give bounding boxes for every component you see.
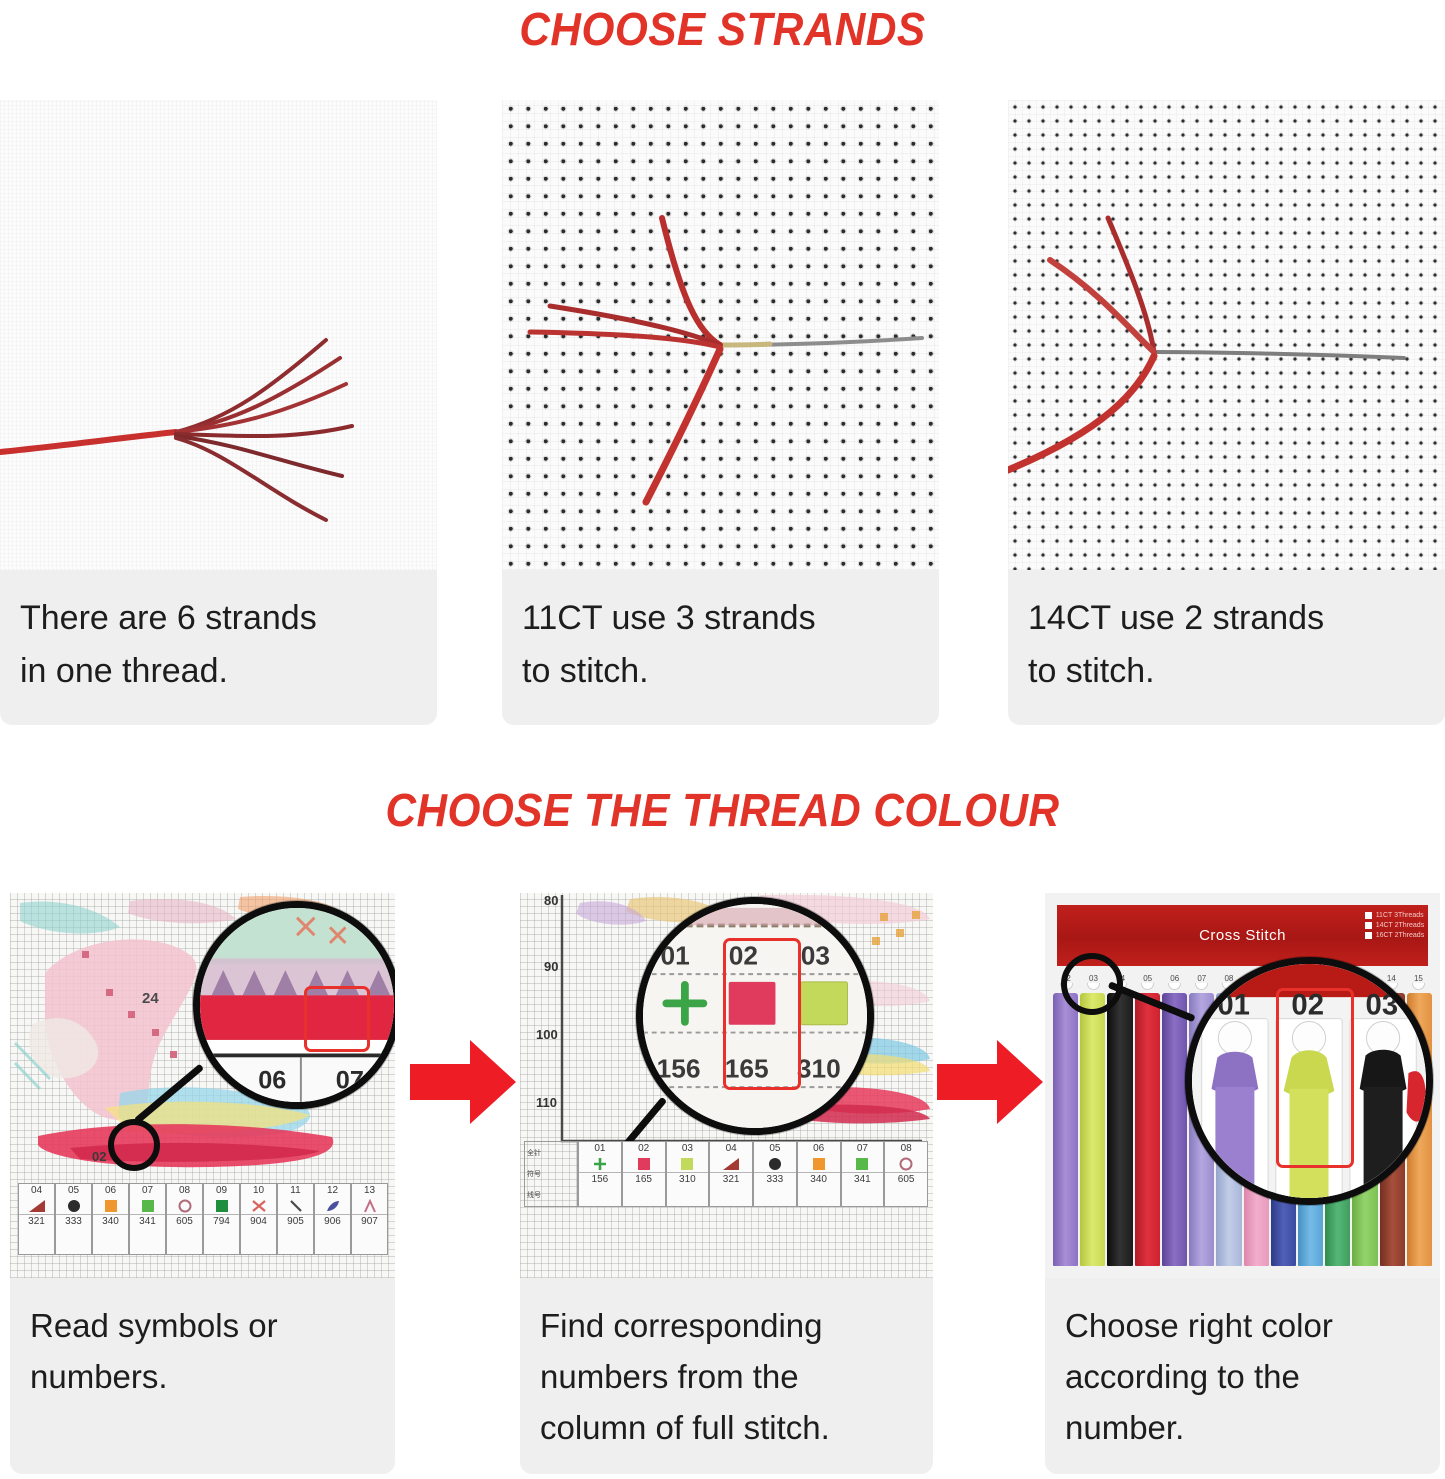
legend-code: 12 <box>327 1184 338 1197</box>
heading-choose-strands: CHOOSE STRANDS <box>58 2 1387 56</box>
legend-symbol <box>591 1155 609 1172</box>
checkbox-icon <box>1365 932 1372 939</box>
legend-cell: 07 341 <box>129 1183 166 1255</box>
legend-dmc: 165 <box>623 1172 665 1186</box>
legend-symbol <box>324 1197 342 1214</box>
legend-cell: 05 333 <box>753 1141 797 1207</box>
photo-six-strands <box>0 100 437 570</box>
caption-11ct: 11CT use 3 strands to stitch. <box>502 570 939 725</box>
caption-line: numbers. <box>30 1351 375 1402</box>
triangle-symbol-icon <box>721 1156 741 1172</box>
legend-text: 14CT 2Threads <box>1376 922 1425 929</box>
lambda-symbol-icon <box>361 1198 379 1214</box>
thread-card-title: Cross Stitch <box>1199 927 1286 944</box>
magnifier-target-circle <box>108 1119 160 1171</box>
legend-symbol <box>213 1197 231 1214</box>
panel-read-symbols: 24 02 <box>10 893 395 1474</box>
photo-chart-with-legend: 80 90 100 110 <box>520 893 933 1278</box>
legend-symbol <box>65 1197 83 1214</box>
caption-line: to stitch. <box>1028 645 1425 698</box>
legend-symbol <box>27 1197 47 1214</box>
legend-symbol <box>361 1197 379 1214</box>
legend-symbol <box>287 1197 305 1214</box>
legend-code: 06 <box>813 1142 824 1155</box>
legend-dmc: 605 <box>885 1172 927 1186</box>
legend-dmc: 340 <box>798 1172 840 1186</box>
plus-symbol-icon <box>591 1156 609 1172</box>
legend-dmc: 794 <box>204 1214 239 1228</box>
legend-symbol <box>766 1155 784 1172</box>
legend-code: 11 <box>290 1184 300 1197</box>
legend-row: 16CT 2Threads <box>1365 932 1425 939</box>
square-symbol-icon <box>853 1156 871 1172</box>
caption-line: There are 6 strands <box>20 592 417 645</box>
legend-code: 05 <box>769 1142 780 1155</box>
svg-text:110: 110 <box>536 1095 557 1110</box>
skein <box>1162 993 1187 1266</box>
legend-row: 11CT 3Threads <box>1365 912 1425 919</box>
slot-number: 08 <box>1224 974 1233 983</box>
triangle-symbol-icon <box>27 1198 47 1214</box>
legend-symbol <box>853 1155 871 1172</box>
legend-symbol <box>721 1155 741 1172</box>
legend-code: 03 <box>682 1142 693 1155</box>
legend-symbol <box>250 1197 268 1214</box>
legend-symbol <box>635 1155 653 1172</box>
legend-cell: 06 340 <box>92 1183 129 1255</box>
checkbox-icon <box>1365 912 1372 919</box>
notch-icon <box>1168 983 1181 990</box>
photo-14ct <box>1008 100 1445 570</box>
caption-line: Read symbols or <box>30 1300 375 1351</box>
backslash-symbol-icon <box>287 1198 305 1214</box>
svg-text:06: 06 <box>258 1066 286 1094</box>
checkbox-icon <box>1365 922 1372 929</box>
skein <box>1080 993 1105 1266</box>
circle-outline-symbol-icon <box>897 1156 915 1172</box>
legend-symbol <box>176 1197 194 1214</box>
arrow-right-icon <box>408 1036 518 1128</box>
slot-number: 15 <box>1414 974 1423 983</box>
arrow-right-icon <box>935 1036 1045 1128</box>
magnifier-icon: 01 02 03 <box>1185 957 1433 1205</box>
legend-dmc: 907 <box>352 1214 387 1228</box>
photo-11ct <box>502 100 939 570</box>
legend-dmc: 605 <box>167 1214 202 1228</box>
legend-symbol <box>102 1197 120 1214</box>
notch-icon <box>1412 983 1425 990</box>
square-symbol-icon <box>139 1198 157 1214</box>
slot-number: 14 <box>1387 974 1396 983</box>
legend-cell: 03 310 <box>666 1141 710 1207</box>
legend-cell: 09 794 <box>203 1183 240 1255</box>
caption-line: 14CT use 2 strands <box>1028 592 1425 645</box>
legend-code: 10 <box>253 1184 264 1197</box>
legend-cell: 12 906 <box>314 1183 351 1255</box>
notch-icon <box>1195 983 1208 990</box>
legend-code: 04 <box>726 1142 737 1155</box>
legend-symbol <box>139 1197 157 1214</box>
legend-dmc: 340 <box>93 1214 128 1228</box>
svg-text:01: 01 <box>1217 990 1250 1022</box>
thread-card-legend: 11CT 3Threads 14CT 2Threads 16CT 2Thread… <box>1365 912 1425 939</box>
legend-code: 06 <box>105 1184 116 1197</box>
panel-11ct: 11CT use 3 strands to stitch. <box>502 100 939 725</box>
svg-text:100: 100 <box>536 1027 558 1042</box>
slot-number: 07 <box>1197 974 1206 983</box>
legend-row: 14CT 2Threads <box>1365 922 1425 929</box>
legend-cell: 04 321 <box>18 1183 55 1255</box>
caption-line: column of full stitch. <box>540 1402 913 1453</box>
svg-text:80: 80 <box>544 893 558 908</box>
svg-text:24: 24 <box>142 990 159 1007</box>
skein <box>1135 993 1160 1266</box>
legend-cell: 02 165 <box>622 1141 666 1207</box>
full-stitch-legend-table: 全针 符号 线号 01 156 02 165 <box>524 1141 928 1207</box>
legend-text: 16CT 2Threads <box>1376 932 1425 939</box>
panel-14ct: 14CT use 2 strands to stitch. <box>1008 100 1445 725</box>
two-strands-needle-illustration <box>1008 100 1445 570</box>
legend-dmc: 321 <box>19 1214 54 1228</box>
caption-line: according to the <box>1065 1351 1420 1402</box>
svg-text:90: 90 <box>544 959 558 974</box>
slot-number: 05 <box>1143 974 1152 983</box>
legend-cell: 08 605 <box>166 1183 203 1255</box>
arrow-shape <box>935 1036 1045 1128</box>
legend-row-labels: 全针 符号 线号 <box>524 1141 578 1207</box>
legend-dmc: 341 <box>842 1172 884 1186</box>
caption-line: Choose right color <box>1065 1300 1420 1351</box>
panel-find-numbers: 80 90 100 110 <box>520 893 933 1474</box>
panel-choose-color: Cross Stitch 11CT 3Threads 14CT 2Threads… <box>1045 893 1440 1474</box>
legend-code: 08 <box>179 1184 190 1197</box>
legend-cell: 08 605 <box>884 1141 928 1207</box>
legend-code: 08 <box>901 1142 912 1155</box>
caption-line: number. <box>1065 1402 1420 1453</box>
legend-dmc: 321 <box>710 1172 752 1186</box>
photo-cross-stitch-chart: 24 02 <box>10 893 395 1278</box>
photo-thread-card: Cross Stitch 11CT 3Threads 14CT 2Threads… <box>1045 893 1440 1278</box>
magnifier-icon: 01 02 03 156 165 310 <box>636 897 874 1135</box>
caption-line: to stitch. <box>522 645 919 698</box>
legend-dmc: 156 <box>579 1172 621 1186</box>
panel-six-strands: There are 6 strands in one thread. <box>0 100 437 725</box>
legend-dmc: 310 <box>667 1172 709 1186</box>
square-symbol-icon <box>102 1198 120 1214</box>
legend-symbol <box>678 1155 696 1172</box>
svg-text:03: 03 <box>801 940 830 970</box>
legend-symbol <box>810 1155 828 1172</box>
legend-dmc: 341 <box>130 1214 165 1228</box>
legend-code: 05 <box>68 1184 79 1197</box>
legend-dmc: 906 <box>315 1214 350 1228</box>
caption-line: numbers from the <box>540 1351 913 1402</box>
symbol-legend-table: 04 321 05 333 06 <box>18 1183 388 1255</box>
dot-symbol-icon <box>766 1156 784 1172</box>
notch-icon <box>1141 983 1154 990</box>
legend-text: 11CT 3Threads <box>1376 912 1424 919</box>
slot-number: 06 <box>1170 974 1179 983</box>
legend-row-label: 全针 <box>527 1148 541 1158</box>
legend-code: 04 <box>31 1184 42 1197</box>
magnifier-target-circle <box>1061 953 1123 1015</box>
legend-cell: 11 905 <box>277 1183 314 1255</box>
cross-symbol-icon <box>250 1198 268 1214</box>
svg-text:310: 310 <box>797 1053 841 1083</box>
legend-code: 09 <box>216 1184 227 1197</box>
dot-symbol-icon <box>65 1198 83 1214</box>
legend-dmc: 333 <box>56 1214 91 1228</box>
svg-text:01: 01 <box>661 940 690 970</box>
legend-cell: 07 341 <box>841 1141 885 1207</box>
legend-symbol <box>897 1155 915 1172</box>
caption-six-strands: There are 6 strands in one thread. <box>0 570 437 725</box>
legend-cell: 05 333 <box>55 1183 92 1255</box>
legend-cell: 06 340 <box>797 1141 841 1207</box>
square-symbol-icon <box>678 1156 696 1172</box>
square-symbol-icon <box>635 1156 653 1172</box>
legend-code: 07 <box>857 1142 868 1155</box>
three-strands-needle-illustration <box>502 100 939 570</box>
square-symbol-icon <box>810 1156 828 1172</box>
legend-row-label: 线号 <box>527 1190 541 1200</box>
caption-read-symbols: Read symbols or numbers. <box>10 1278 395 1474</box>
caption-find-numbers: Find corresponding numbers from the colu… <box>520 1278 933 1474</box>
legend-code: 01 <box>594 1142 605 1155</box>
skein <box>1107 993 1132 1266</box>
svg-text:02: 02 <box>92 1149 106 1164</box>
skein <box>1053 993 1078 1266</box>
svg-text:03: 03 <box>1366 990 1399 1022</box>
leaf-symbol-icon <box>324 1198 342 1214</box>
infographic-page: CHOOSE STRANDS There are 6 strands in on… <box>0 0 1445 1479</box>
caption-line: in one thread. <box>20 645 417 698</box>
legend-dmc: 904 <box>241 1214 276 1228</box>
legend-code: 07 <box>142 1184 153 1197</box>
caption-line: Find corresponding <box>540 1300 913 1351</box>
caption-choose-color: Choose right color according to the numb… <box>1045 1278 1440 1474</box>
legend-dmc: 333 <box>754 1172 796 1186</box>
circle-outline-symbol-icon <box>176 1198 194 1214</box>
legend-cell: 10 904 <box>240 1183 277 1255</box>
heading-choose-thread-colour: CHOOSE THE THREAD COLOUR <box>58 783 1387 837</box>
caption-14ct: 14CT use 2 strands to stitch. <box>1008 570 1445 725</box>
square-symbol-icon <box>213 1198 231 1214</box>
legend-code: 02 <box>638 1142 649 1155</box>
legend-code: 13 <box>364 1184 375 1197</box>
caption-line: 11CT use 3 strands <box>522 592 919 645</box>
legend-cell: 04 321 <box>709 1141 753 1207</box>
legend-cell: 13 907 <box>351 1183 388 1255</box>
arrow-shape <box>408 1036 518 1128</box>
svg-text:156: 156 <box>657 1053 701 1083</box>
magnifier-icon: 06 07 <box>193 901 395 1109</box>
legend-dmc: 905 <box>278 1214 313 1228</box>
highlight-box <box>304 986 370 1052</box>
highlight-box <box>723 938 801 1090</box>
highlight-box <box>1276 988 1354 1168</box>
legend-cell: 01 156 <box>578 1141 622 1207</box>
legend-row-label: 符号 <box>527 1169 541 1179</box>
six-strands-illustration <box>0 100 437 570</box>
